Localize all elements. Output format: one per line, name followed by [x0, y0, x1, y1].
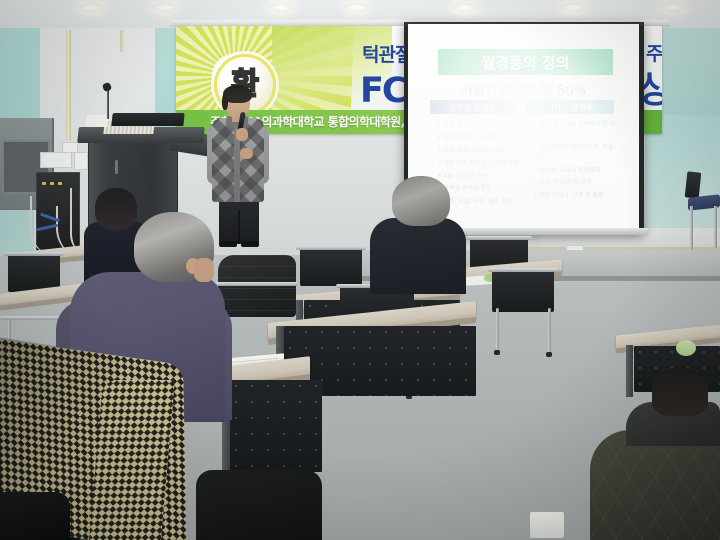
bag — [196, 470, 322, 540]
attendee-body — [370, 218, 466, 294]
bullet-item: 생리 시작 직전 또는 직후 통증 — [438, 159, 520, 169]
downlight-icon — [452, 3, 478, 12]
handout-booklet — [530, 512, 564, 538]
slide-bullets-secondary: 골반 내 기질적 병변에 의한 생리통 자궁내막증, 자궁선근증, 자궁근종 골… — [526, 120, 618, 204]
draped-jacket-quilting — [218, 255, 296, 317]
downlight-icon — [78, 3, 104, 12]
bullet-list: 골반 내 기질적 병변에 의한 생리통 자궁내막증, 자궁선근증, 자궁근종 골… — [526, 120, 618, 201]
presenter-shoe — [219, 241, 237, 247]
lectern-monitor — [111, 113, 184, 126]
bullet-item: 골반염, 자궁내 피임장치 — [534, 166, 618, 176]
wall-conduit — [120, 30, 124, 52]
presenter-leg-split — [238, 210, 240, 244]
chair-foot — [546, 352, 552, 357]
slide-column-header-primary: 일차성 월경통 — [430, 100, 515, 114]
bullet-item: 초경 후 6~12개월 이내 발생 — [438, 146, 520, 156]
bullet-item: 하복부 경련성 통증 — [438, 184, 520, 194]
downlight-icon — [660, 3, 686, 12]
bullet-item: 48~72시간 지속 — [438, 172, 520, 182]
slide-column-header-secondary: 이차성 월경통 — [526, 100, 614, 114]
downlight-icon — [152, 3, 178, 12]
bullet-item: 골반 내 기질적 병변에 의한 생리통 — [534, 120, 618, 140]
attendee-head — [95, 188, 137, 230]
bullet-item: 자궁내막증, 자궁선근증, 자궁근종 — [534, 143, 618, 163]
status-led — [50, 182, 54, 185]
chair-back — [300, 248, 362, 286]
lecture-hall-photo: 환 턱관절을 FCST전 주요법 상특강 주최:CHA의과학대학교 통합의학대학… — [0, 0, 720, 540]
attendee-jacket-quilting — [590, 430, 720, 540]
chair-rail — [4, 252, 64, 256]
downlight-icon — [560, 3, 586, 12]
desk-leg — [626, 345, 633, 397]
bullet-item: 골반 내 특별한 기질적 병변 — [438, 120, 520, 130]
draped-coat-tail — [89, 380, 175, 540]
bullet-item: 초경 후 수년 뒤 발생 — [534, 178, 618, 188]
attendee-hand — [194, 258, 214, 282]
stage-chair-leg — [714, 206, 717, 248]
desk-item — [676, 340, 696, 356]
status-led — [42, 182, 46, 185]
av-module — [40, 152, 72, 168]
av-module — [74, 152, 88, 170]
wall-conduit — [66, 30, 71, 140]
presenter-hand — [236, 128, 248, 141]
stage-chair-leg — [690, 206, 693, 250]
presenter-shoe — [241, 241, 259, 247]
presenter-hand — [240, 148, 253, 159]
gooseneck-mic-stand — [107, 89, 109, 119]
slide-title-box: 월경통의 정의 — [438, 49, 613, 75]
attendee-head — [652, 368, 708, 416]
slide-subtitle: 가임기 여성의 약 50% — [408, 80, 639, 99]
bullet-item: 생리 시작 1~2주 전 통증 — [534, 191, 618, 201]
bullet-item: 없이 발생하는 생리통 — [438, 133, 520, 143]
attendee-hair — [392, 176, 450, 226]
presenter-hair-side — [222, 94, 228, 110]
status-led — [58, 182, 62, 185]
downlight-icon — [344, 3, 370, 12]
desk-modesty-panel — [230, 380, 322, 472]
lectern-paper — [85, 115, 108, 127]
bullet-item: 요통, 오심, 구토, 설사 동반 — [438, 197, 520, 207]
downlight-icon — [268, 3, 294, 12]
chair-rail — [214, 282, 298, 286]
chair-back — [492, 270, 554, 312]
slide-title: 월경통의 정의 — [481, 52, 569, 73]
chair-rail — [466, 236, 532, 240]
lectern-latch — [115, 160, 118, 174]
foreground-dark-object — [0, 492, 70, 540]
chair-rail — [296, 246, 366, 250]
stage-chair-back — [685, 171, 702, 198]
chair-leg — [496, 308, 499, 352]
chair-foot — [494, 350, 500, 355]
chair-rail — [488, 268, 558, 272]
av-module — [62, 142, 78, 153]
chair-leg — [548, 308, 551, 354]
